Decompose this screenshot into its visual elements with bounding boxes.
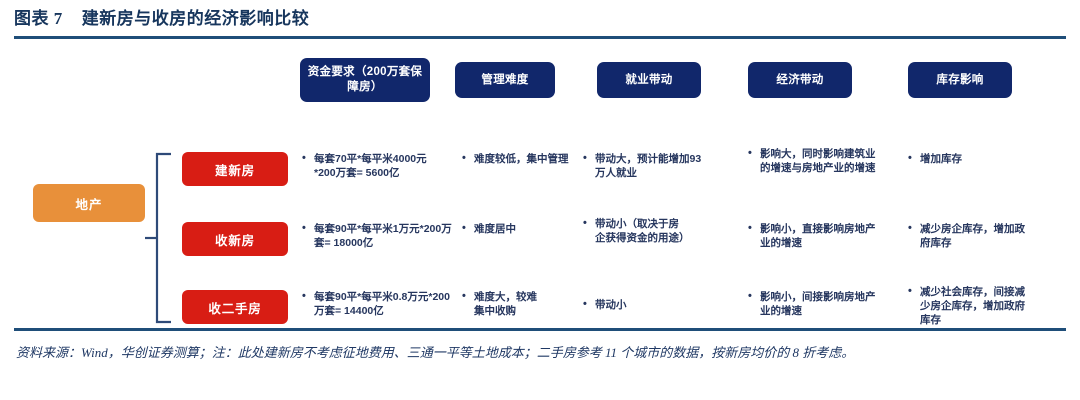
cell-r1-c2: 难度较低，集中管理 <box>462 152 570 166</box>
column-header-management-difficulty[interactable]: 管理难度 <box>455 62 555 98</box>
row-label-buy-new-housing[interactable]: 收新房 <box>182 222 288 256</box>
footer-divider <box>14 328 1066 331</box>
source-note: 资料来源：Wind，华创证券测算；注：此处建新房不考虑征地费用、三通一平等土地成… <box>16 340 1064 365</box>
column-header-economic-impact[interactable]: 经济带动 <box>748 62 852 98</box>
cell-r1-c5: 增加库存 <box>908 152 1038 166</box>
branch-bracket-connector <box>145 152 181 324</box>
cell-r3-c3: 带动小 <box>583 298 693 312</box>
cell-r2-c4: 影响小，直接影响房地产业的增速 <box>748 222 876 250</box>
cell-r3-c2: 难度大，较难集中收购 <box>462 290 540 318</box>
cell-r3-c4: 影响小，间接影响房地产业的增速 <box>748 290 876 318</box>
cell-r1-c4: 影响大，同时影响建筑业的增速与房地产业的增速 <box>748 147 876 175</box>
title-divider <box>14 36 1066 39</box>
cell-r2-c2: 难度居中 <box>462 222 570 236</box>
root-node-real-estate[interactable]: 地产 <box>33 184 145 222</box>
cell-r1-c3: 带动大，预计能增加93万人就业 <box>583 152 703 180</box>
cell-r2-c1: 每套90平*每平米1万元*200万套= 18000亿 <box>302 222 452 250</box>
column-header-inventory-impact[interactable]: 库存影响 <box>908 62 1012 98</box>
cell-r2-c5: 减少房企库存，增加政府库存 <box>908 222 1030 250</box>
cell-r3-c5: 减少社会库存，间接减少房企库存，增加政府库存 <box>908 285 1032 327</box>
row-label-build-new-housing[interactable]: 建新房 <box>182 152 288 186</box>
cell-r3-c1: 每套90平*每平米0.8万元*200万套= 14400亿 <box>302 290 452 318</box>
column-header-employment[interactable]: 就业带动 <box>597 62 701 98</box>
cell-r2-c3: 带动小（取决于房企获得资金的用途） <box>583 217 687 245</box>
row-label-buy-secondhand-housing[interactable]: 收二手房 <box>182 290 288 324</box>
page-title: 图表 7 建新房与收房的经济影响比较 <box>14 6 1066 32</box>
figure-title-bar: 图表 7 建新房与收房的经济影响比较 <box>14 6 1066 38</box>
comparison-diagram: 资金要求（200万套保障房） 管理难度 就业带动 经济带动 库存影响 地产 建新… <box>0 42 1080 324</box>
column-header-funding[interactable]: 资金要求（200万套保障房） <box>300 58 430 102</box>
cell-r1-c1: 每套70平*每平米4000元*200万套= 5600亿 <box>302 152 448 180</box>
